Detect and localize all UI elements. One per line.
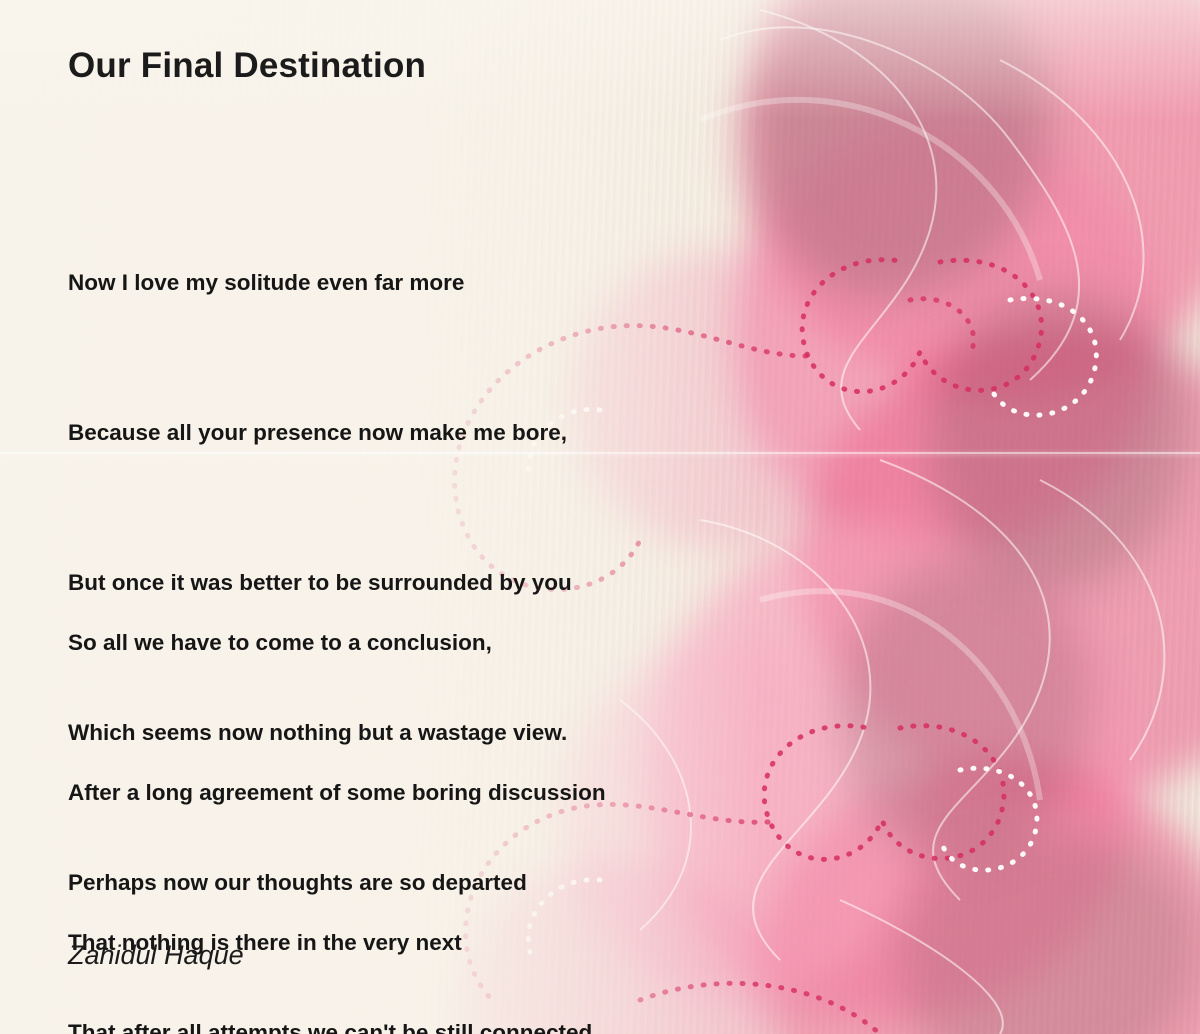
poem-line: Because all your presence now make me bo… (68, 408, 598, 458)
poem-line: Now I love my solitude even far more (68, 258, 598, 308)
poem-line: So all we have to come to a conclusion, (68, 618, 606, 668)
poem-content: Our Final Destination Now I love my soli… (0, 0, 1200, 1034)
poem-card: Our Final Destination Now I love my soli… (0, 0, 1200, 1034)
poem-line: After a long agreement of some boring di… (68, 768, 606, 818)
poem-author: Zahidul Haque (68, 940, 244, 971)
page-title: Our Final Destination (68, 46, 426, 86)
